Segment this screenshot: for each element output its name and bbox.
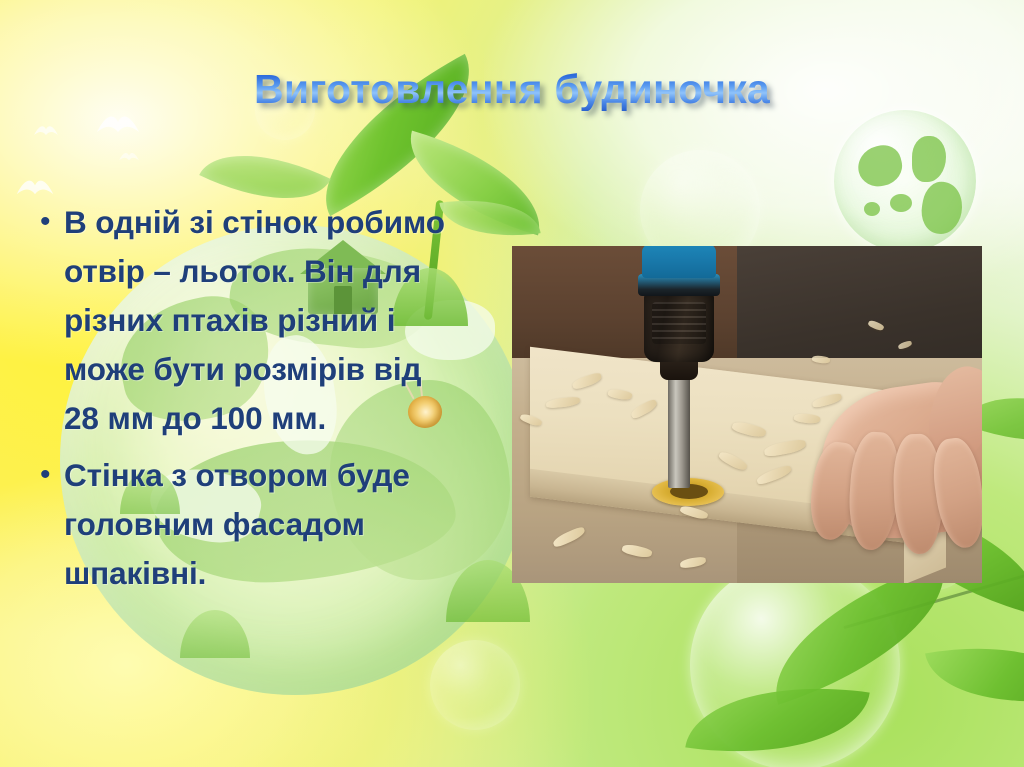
leaf-graphic bbox=[685, 668, 869, 767]
bubble-graphic bbox=[690, 560, 900, 767]
bullet-marker-icon: • bbox=[34, 451, 64, 499]
slide-body: • В одній зі стінок робимо отвір – льото… bbox=[34, 198, 464, 606]
photo-drill-arbor bbox=[668, 376, 690, 488]
list-item: • Стінка з отвором буде головним фасадом… bbox=[34, 451, 464, 598]
leaf-graphic bbox=[925, 628, 1024, 723]
earth-bubble-graphic bbox=[834, 110, 976, 252]
slide-photo-drilling-hole bbox=[512, 246, 982, 583]
bubble-graphic bbox=[430, 640, 520, 730]
presentation-slide: Виготовлення будиночка • В одній зі стін… bbox=[0, 0, 1024, 767]
bullet-text: Стінка з отвором буде головним фасадом ш… bbox=[64, 451, 464, 598]
grass-tuft-graphic bbox=[180, 610, 250, 658]
bird-icon bbox=[118, 150, 140, 164]
list-item: • В одній зі стінок робимо отвір – льото… bbox=[34, 198, 464, 443]
bird-icon bbox=[33, 122, 59, 140]
bullet-marker-icon: • bbox=[34, 198, 64, 246]
photo-drill-body bbox=[642, 246, 716, 278]
bird-icon bbox=[95, 110, 141, 140]
photo-drill-chuck bbox=[644, 292, 714, 362]
bullet-text: В одній зі стінок робимо отвір – льоток.… bbox=[64, 198, 464, 443]
slide-title: Виготовлення будиночка bbox=[0, 68, 1024, 111]
